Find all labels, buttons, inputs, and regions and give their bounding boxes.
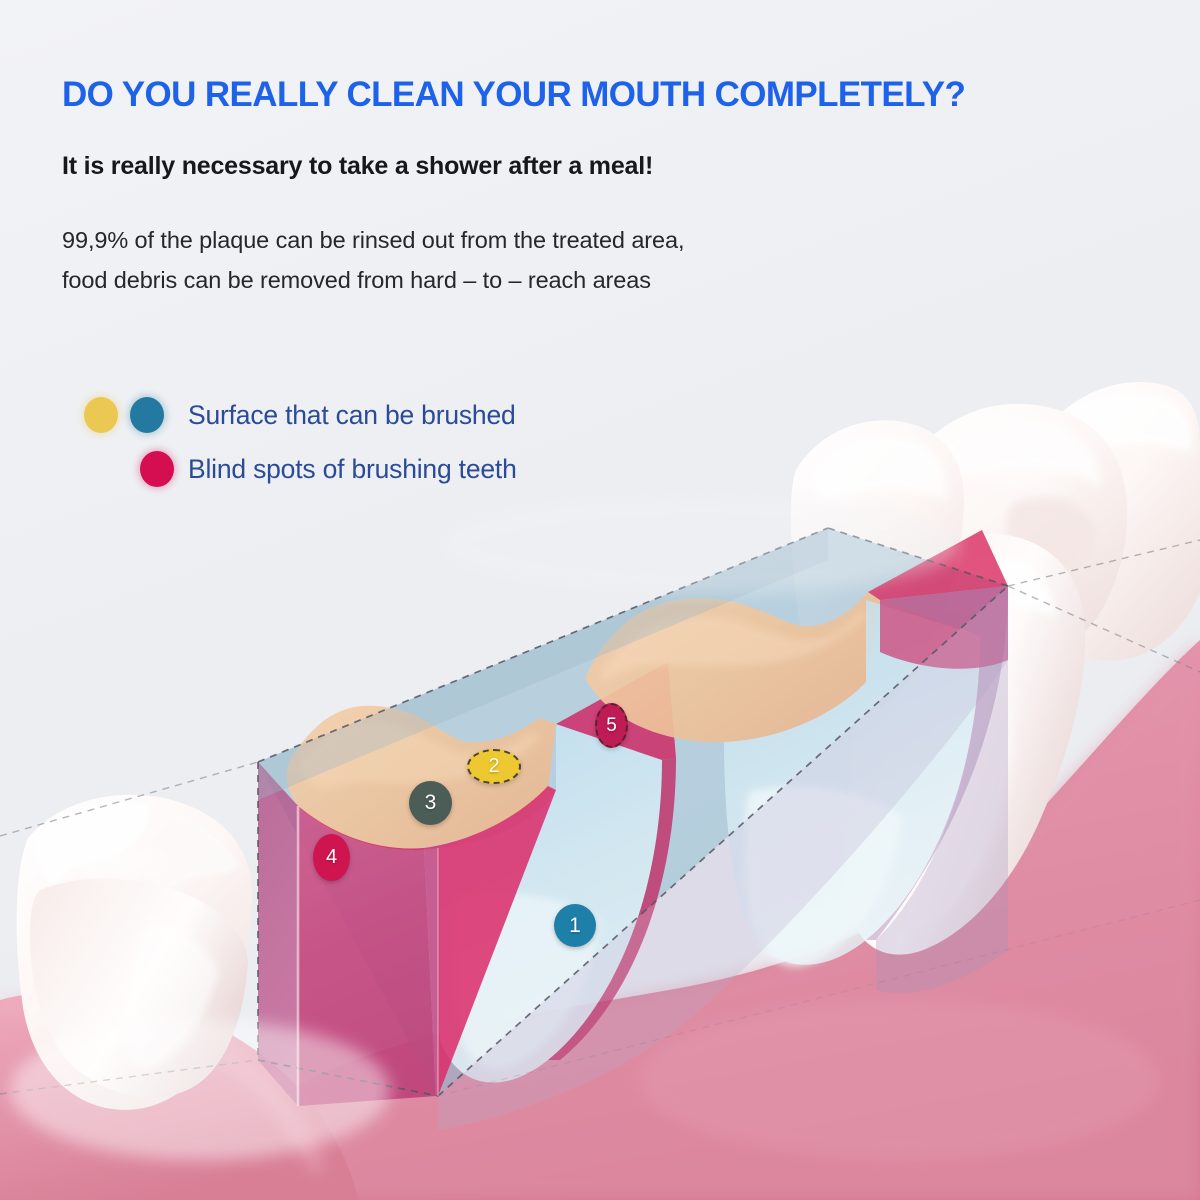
- legend: Surface that can be brushed Blind spots …: [84, 388, 517, 496]
- yellow-dot-icon: [84, 397, 118, 433]
- marker-2[interactable]: 2: [467, 749, 521, 784]
- description-line-2: food debris can be removed from hard – t…: [62, 260, 684, 300]
- marker-3[interactable]: 3: [409, 781, 452, 825]
- description-text: 99,9% of the plaque can be rinsed out fr…: [62, 220, 684, 300]
- legend-swatches-brushable: [84, 397, 188, 433]
- marker-1[interactable]: 1: [554, 904, 596, 947]
- infographic-canvas: 1 2 3 4 5 DO YOU REALLY CLEAN YOUR MOUTH…: [0, 0, 1200, 1200]
- legend-label-brushable: Surface that can be brushed: [188, 400, 516, 431]
- marker-5[interactable]: 5: [595, 703, 628, 748]
- crimson-dot-icon: [140, 451, 174, 487]
- legend-item-brushable: Surface that can be brushed: [84, 388, 517, 442]
- blue-dot-icon: [130, 397, 164, 433]
- subtitle: It is really necessary to take a shower …: [62, 152, 653, 181]
- page-title: DO YOU REALLY CLEAN YOUR MOUTH COMPLETEL…: [62, 74, 965, 115]
- legend-label-blind-spots: Blind spots of brushing teeth: [188, 454, 517, 485]
- legend-item-blind-spots: Blind spots of brushing teeth: [84, 442, 517, 496]
- description-line-1: 99,9% of the plaque can be rinsed out fr…: [62, 220, 684, 260]
- marker-4[interactable]: 4: [313, 834, 350, 881]
- legend-swatches-blind-spots: [84, 451, 188, 487]
